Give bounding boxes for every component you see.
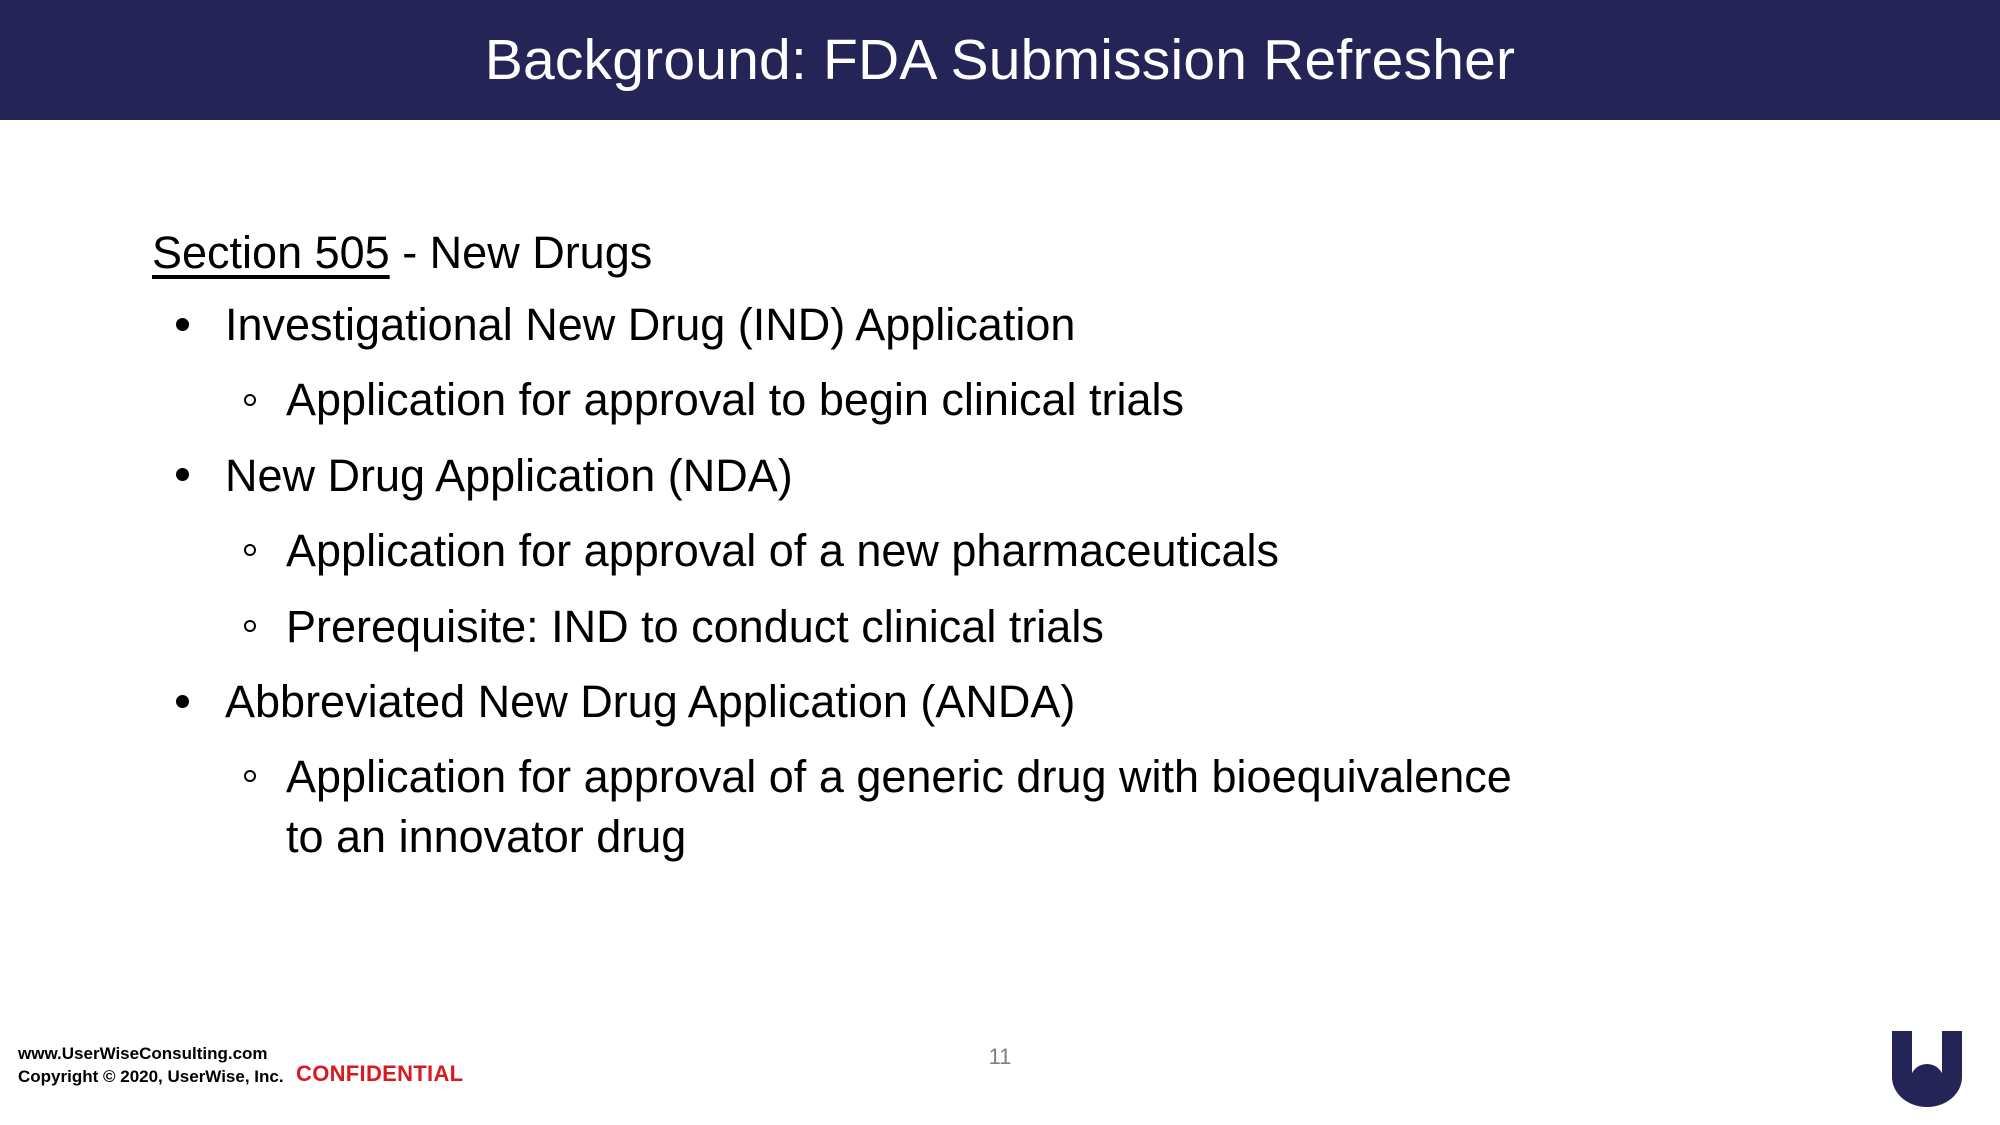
bullet-circle-icon bbox=[228, 747, 286, 806]
section-heading: Section 505 - New Drugs bbox=[152, 230, 652, 275]
list-item-label: New Drug Application (NDA) bbox=[225, 446, 793, 505]
list-item-label: Investigational New Drug (IND) Applicati… bbox=[225, 295, 1075, 354]
list-item: Application for approval of a generic dr… bbox=[0, 747, 2000, 866]
list-item-label: Abbreviated New Drug Application (ANDA) bbox=[225, 672, 1075, 731]
list-item-label: Prerequisite: IND to conduct clinical tr… bbox=[286, 597, 1104, 656]
slide: Background: FDA Submission Refresher Sec… bbox=[0, 0, 2000, 1125]
list-item: Investigational New Drug (IND) Applicati… bbox=[0, 295, 2000, 354]
page-title: Background: FDA Submission Refresher bbox=[485, 32, 1516, 89]
list-item: Application for approval of a new pharma… bbox=[0, 521, 2000, 580]
list-item-label: Application for approval to begin clinic… bbox=[286, 370, 1184, 429]
page-number: 11 bbox=[0, 1044, 2000, 1070]
list-item-label: Application for approval of a new pharma… bbox=[286, 521, 1279, 580]
list-item: Abbreviated New Drug Application (ANDA) bbox=[0, 672, 2000, 731]
userwise-logo-icon bbox=[1882, 1025, 1972, 1107]
bullet-disc-icon bbox=[168, 672, 225, 731]
bullet-circle-icon bbox=[228, 370, 286, 429]
bullet-list: Investigational New Drug (IND) Applicati… bbox=[0, 295, 2000, 882]
section-heading-underlined: Section 505 bbox=[152, 227, 390, 278]
bullet-circle-icon bbox=[228, 521, 286, 580]
userwise-logo bbox=[1882, 1025, 1972, 1107]
list-item: Application for approval to begin clinic… bbox=[0, 370, 2000, 429]
title-banner: Background: FDA Submission Refresher bbox=[0, 0, 2000, 120]
list-item: New Drug Application (NDA) bbox=[0, 446, 2000, 505]
slide-body: Section 505 - New Drugs Investigational … bbox=[0, 120, 2000, 1000]
bullet-disc-icon bbox=[168, 295, 225, 354]
bullet-disc-icon bbox=[168, 446, 225, 505]
list-item: Prerequisite: IND to conduct clinical tr… bbox=[0, 597, 2000, 656]
list-item-label: Application for approval of a generic dr… bbox=[286, 747, 1536, 866]
bullet-circle-icon bbox=[228, 597, 286, 656]
section-heading-rest: - New Drugs bbox=[390, 227, 653, 278]
